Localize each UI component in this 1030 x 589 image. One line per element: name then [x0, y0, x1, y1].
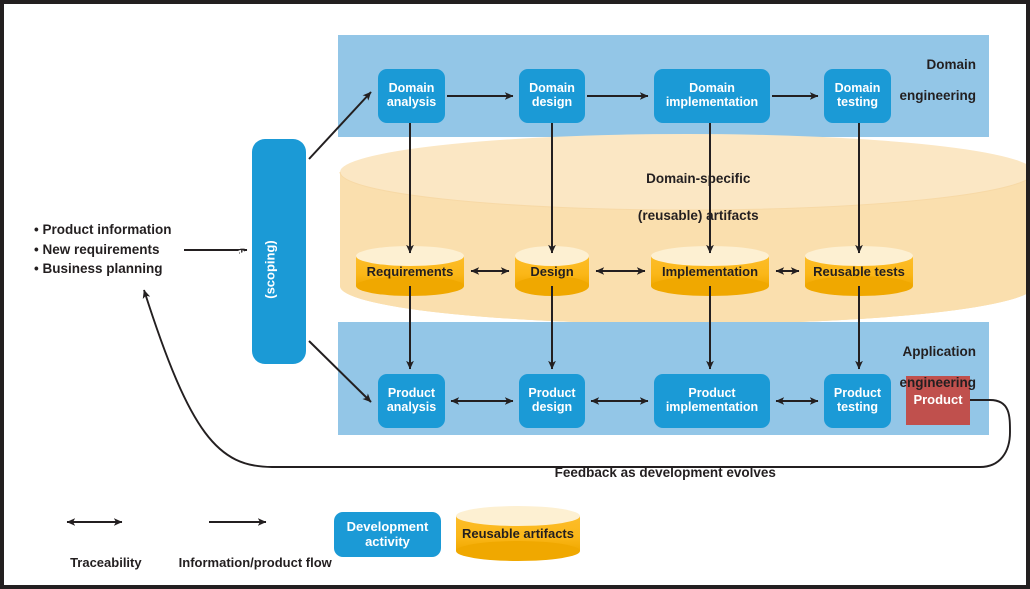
legend-traceability-label: Traceability — [39, 541, 151, 585]
legend-activity-swatch — [334, 512, 441, 557]
application-engineering-title-line1: Application — [903, 344, 977, 359]
input-bullet-0: • Product information — [34, 220, 171, 240]
scoping-label-line1: Analysis for potential reuse — [233, 185, 248, 356]
artifacts-band-title: Domain-specific (reusable) artifacts — [537, 152, 837, 243]
feedback-label: Feedback as development evolves — [454, 450, 854, 495]
domain-engineering-title-line2: engineering — [899, 88, 976, 103]
artifacts-title-line2: (reusable) artifacts — [638, 208, 759, 223]
input-bullet-1: • New requirements — [34, 240, 171, 260]
activity-box-product-analysis[interactable] — [378, 374, 445, 428]
input-bullet-2: • Business planning — [34, 259, 171, 279]
activity-box-product-design[interactable] — [519, 374, 585, 428]
application-engineering-title-line2: engineering — [899, 375, 976, 390]
input-bullet-list: • Product information • New requirements… — [34, 220, 171, 279]
diagram-frame: • Product information • New requirements… — [0, 0, 1030, 589]
diagram-stage: • Product information • New requirements… — [4, 4, 1030, 589]
scoping-box-label: Analysis for potential reuse (scoping) — [219, 155, 294, 405]
activity-box-domain-analysis[interactable] — [378, 69, 445, 123]
activity-box-domain-design[interactable] — [519, 69, 585, 123]
activity-box-product-implementation[interactable] — [654, 374, 770, 428]
domain-engineering-title-line1: Domain — [926, 57, 976, 72]
domain-engineering-title: Domain engineering — [819, 42, 976, 119]
scoping-label-line2: (scoping) — [262, 240, 277, 299]
legend-artifacts-swatch — [456, 506, 580, 561]
artifacts-title-line1: Domain-specific — [646, 171, 750, 186]
legend-flow-label: Information/product flow — [157, 541, 317, 585]
application-engineering-title: Application engineering — [804, 329, 976, 406]
activity-box-domain-implementation[interactable] — [654, 69, 770, 123]
